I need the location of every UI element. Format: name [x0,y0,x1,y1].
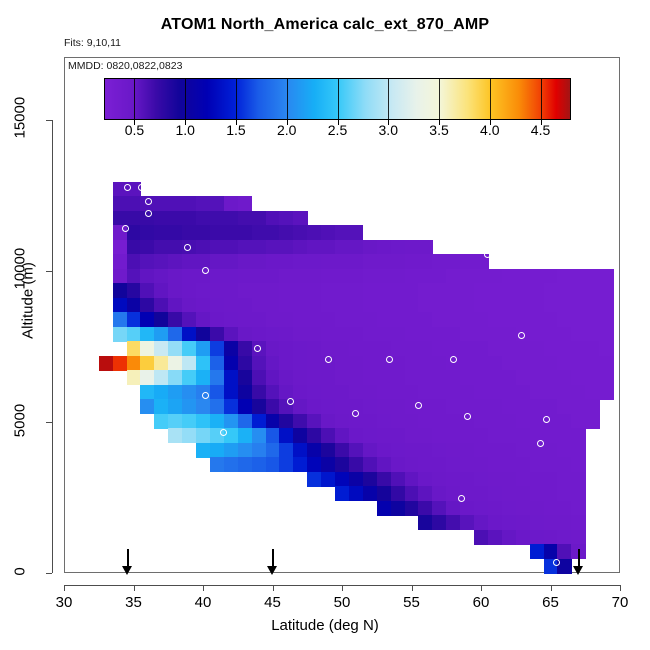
x-tick-label: 30 [56,594,73,611]
x-tick-label: 60 [473,594,490,611]
x-tick-label: 35 [125,594,142,611]
colorbar-tick [388,78,389,120]
colorbar-tick [236,78,237,120]
sample-marker [484,251,491,258]
y-axis-label: Altitude (m) [20,221,37,381]
sample-marker [220,429,227,436]
x-tick [342,585,343,591]
y-tick [46,422,52,423]
colorbar-tick [541,78,542,120]
arrow-head [267,566,277,575]
sample-marker [553,559,560,566]
sample-marker [458,495,465,502]
x-tick-label: 45 [264,594,281,611]
colorbar: 0.51.01.52.02.53.03.54.04.5 [104,78,571,120]
x-tick-label: 40 [195,594,212,611]
colorbar-tick-label: 2.5 [328,122,347,138]
colorbar-ticklabels: 0.51.01.52.02.53.03.54.04.5 [104,122,571,144]
sample-marker [450,356,457,363]
plot-root: ATOM1 North_America calc_ext_870_AMP Fit… [0,0,650,650]
y-tick-label: 15000 [12,99,29,139]
x-tick [481,585,482,591]
x-tick-label: 55 [403,594,420,611]
y-axis-line [52,120,53,573]
sample-marker [124,184,131,191]
sample-marker [352,410,359,417]
colorbar-tick-label: 3.5 [429,122,448,138]
sample-marker [202,267,209,274]
latitude-marker-arrow [267,549,278,575]
x-tick [620,585,621,591]
sample-marker [287,398,294,405]
mmdd-annotation: MMDD: 0820,0822,0823 [68,60,182,72]
y-tick [46,573,52,574]
sample-marker [377,224,384,231]
sample-marker [145,198,152,205]
x-tick [203,585,204,591]
sample-marker [325,356,332,363]
colorbar-tick-label: 2.0 [277,122,296,138]
colorbar-tick-label: 1.5 [226,122,245,138]
x-tick [273,585,274,591]
colorbar-tick-label: 4.0 [480,122,499,138]
latitude-marker-arrow [573,549,584,575]
x-axis-label: Latitude (deg N) [0,617,650,634]
x-tick [134,585,135,591]
y-tick-label: 5000 [12,401,29,441]
x-tick-label: 65 [542,594,559,611]
arrow-head [122,566,132,575]
latitude-marker-arrow [122,549,133,575]
x-tick [412,585,413,591]
colorbar-tick [134,78,135,120]
sample-marker [138,184,145,191]
sample-marker [464,413,471,420]
colorbar-tick [490,78,491,120]
y-tick-label: 0 [12,552,29,592]
colorbar-tick [338,78,339,120]
sample-marker [611,248,618,255]
sample-marker [518,332,525,339]
sample-marker [184,244,191,251]
colorbar-tick-label: 4.5 [531,122,550,138]
sample-marker [145,210,152,217]
x-tick-label: 70 [612,594,629,611]
sample-marker [325,216,332,223]
colorbar-tick-label: 1.0 [175,122,194,138]
sample-marker [434,247,441,254]
colorbar-tick [185,78,186,120]
colorbar-tick-label: 0.5 [125,122,144,138]
x-tick-label: 50 [334,594,351,611]
arrow-head [573,566,583,575]
colorbar-tick-label: 3.0 [379,122,398,138]
sample-marker [415,402,422,409]
x-tick [64,585,65,591]
sample-marker [254,345,261,352]
y-tick [46,120,52,121]
sample-marker [202,392,209,399]
sample-marker [122,225,129,232]
sample-marker [386,356,393,363]
sample-marker [543,416,550,423]
y-tick [46,271,52,272]
colorbar-tickmarks [104,78,571,120]
colorbar-tick [287,78,288,120]
colorbar-tick [439,78,440,120]
sample-marker [537,440,544,447]
x-tick [551,585,552,591]
